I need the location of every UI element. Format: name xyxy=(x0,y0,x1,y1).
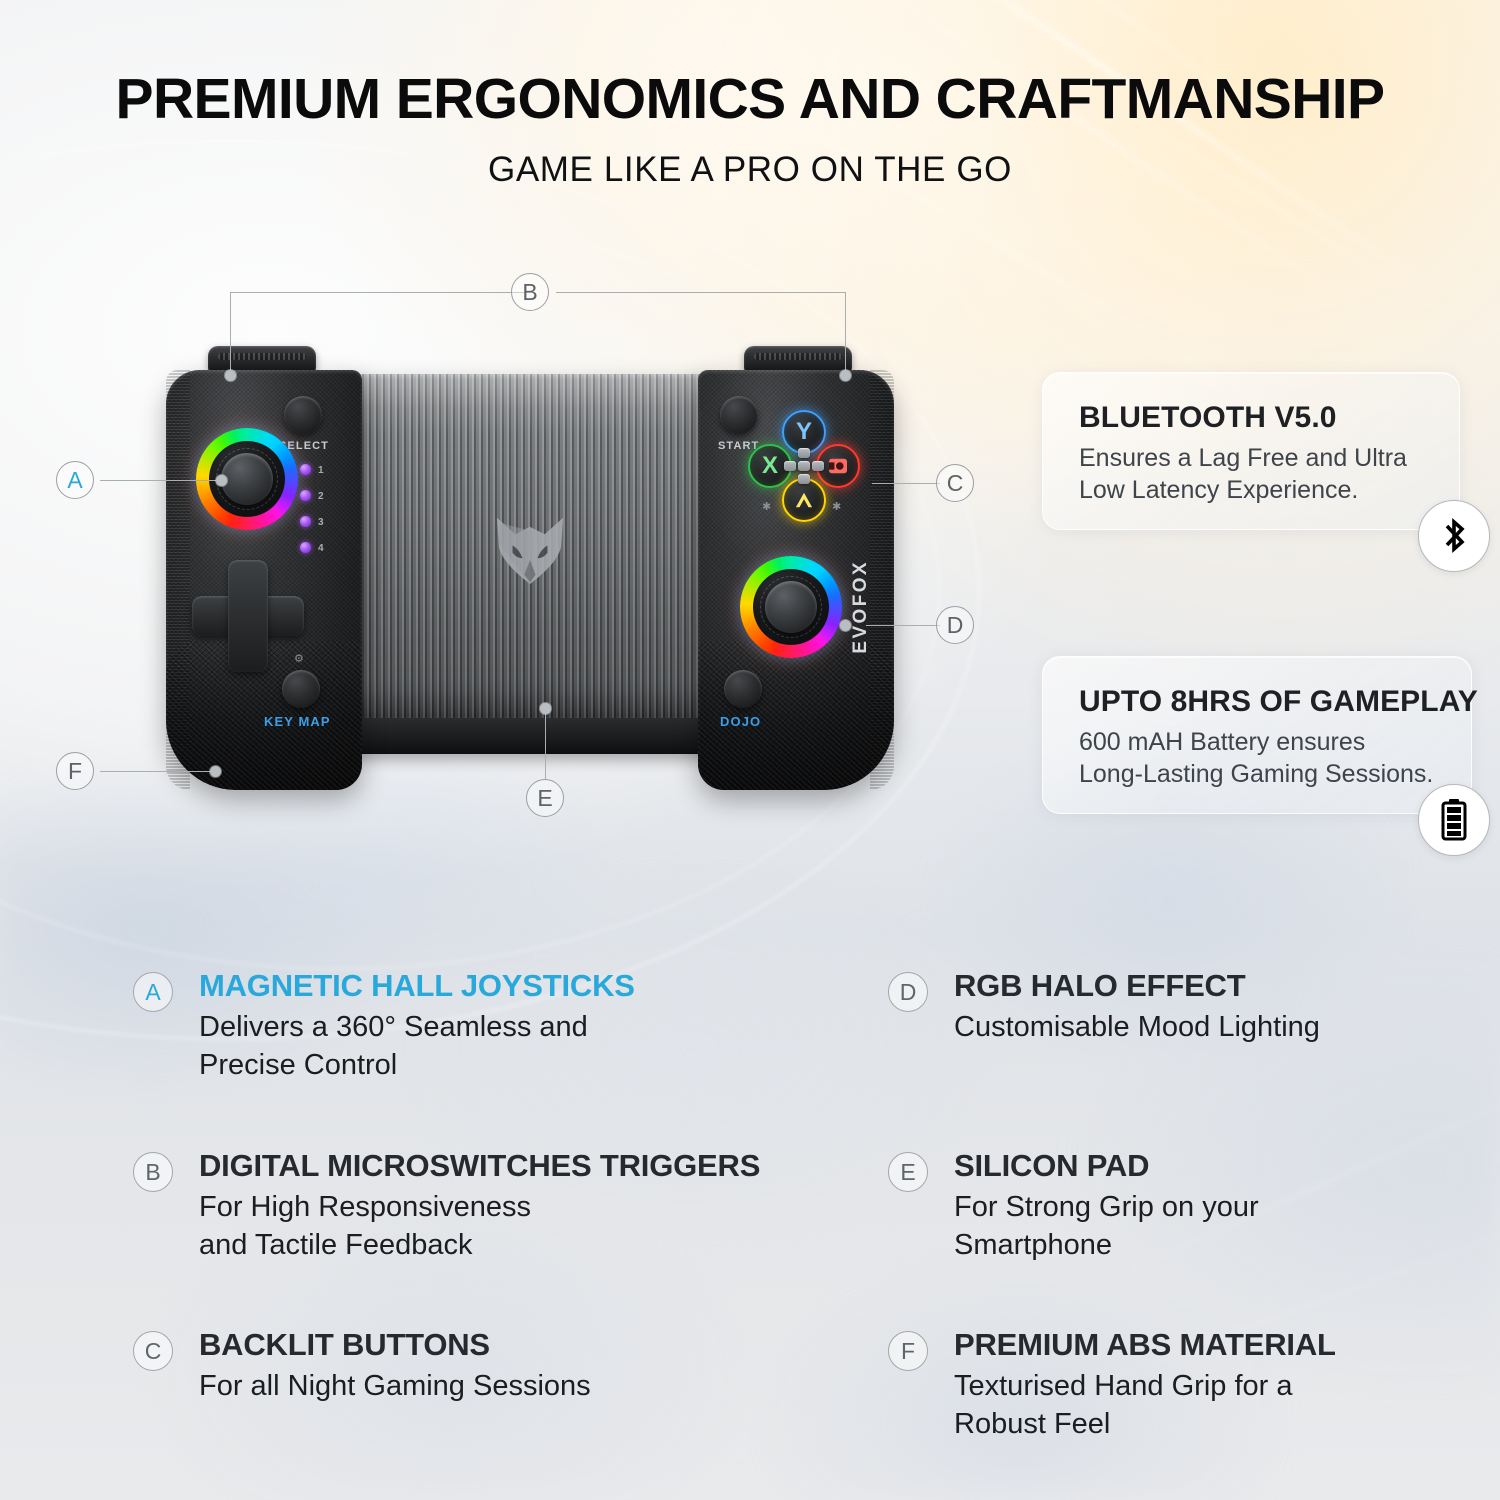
led-indicator-1 xyxy=(300,464,311,475)
legend-marker-a: A xyxy=(133,972,173,1012)
bluetooth-badge xyxy=(1418,500,1490,572)
battery-card-body: 600 mAH Battery ensures Long-Lasting Gam… xyxy=(1079,727,1433,790)
leader-line-e xyxy=(545,708,546,780)
mini-key-left[interactable] xyxy=(784,461,796,471)
backlight-icon: ✱ xyxy=(832,500,841,513)
brand-logo-text: EVOFOX xyxy=(850,560,872,654)
legend-body-d: Customisable Mood Lighting xyxy=(954,1009,1320,1047)
silicon-pad xyxy=(346,374,714,718)
led-number-4: 4 xyxy=(318,543,324,554)
legend-body-e: For Strong Grip on your Smartphone xyxy=(954,1189,1259,1264)
leader-dot-a xyxy=(216,475,227,486)
marker-b: B xyxy=(511,273,549,311)
leader-line-d xyxy=(866,625,940,626)
legend-body-f: Texturised Hand Grip for a Robust Feel xyxy=(954,1368,1292,1443)
legend-marker-d: D xyxy=(888,972,928,1012)
leader-line-c xyxy=(872,483,940,484)
dpad-vertical-arm[interactable] xyxy=(228,560,268,672)
face-button-a[interactable] xyxy=(782,478,826,522)
bluetooth-card-title: BLUETOOTH V5.0 xyxy=(1079,401,1337,435)
legend-body-b: For High Responsiveness and Tactile Feed… xyxy=(199,1189,531,1264)
shoulder-trigger-right[interactable] xyxy=(744,346,852,372)
joystick-cap[interactable] xyxy=(765,581,817,633)
dojo-label: DOJO xyxy=(720,714,761,729)
mini-dpad-cluster[interactable] xyxy=(784,448,824,484)
leader-line-b xyxy=(230,292,530,293)
battery-card-title: UPTO 8HRS OF GAMEPLAY xyxy=(1079,685,1478,719)
marker-f: F xyxy=(56,752,94,790)
legend-title-e: SILICON PAD xyxy=(954,1148,1149,1184)
led-number-1: 1 xyxy=(318,465,324,476)
legend-marker-b: B xyxy=(133,1152,173,1192)
legend-title-c: BACKLIT BUTTONS xyxy=(199,1327,490,1363)
leader-dot-b xyxy=(840,370,851,381)
right-joystick[interactable] xyxy=(740,556,842,658)
bluetooth-card-body: Ensures a Lag Free and Ultra Low Latency… xyxy=(1079,443,1407,506)
leader-dot-b xyxy=(225,370,236,381)
page-title: PREMIUM ERGONOMICS AND CRAFTMANSHIP xyxy=(0,66,1500,132)
leader-line-a xyxy=(100,480,222,481)
leader-dot-f xyxy=(210,766,221,777)
controller-device: SELECT 1 2 3 4 ⚙ KEY MAP START Y xyxy=(150,360,910,820)
bluetooth-icon xyxy=(1437,515,1471,557)
fox-logo-icon xyxy=(484,502,576,596)
joystick-cap[interactable] xyxy=(221,453,273,505)
legend-marker-e: E xyxy=(888,1152,928,1192)
mini-key-up[interactable] xyxy=(798,448,810,458)
start-button[interactable] xyxy=(720,396,758,434)
led-indicator-3 xyxy=(300,516,311,527)
dojo-button[interactable] xyxy=(724,670,762,708)
marker-a: A xyxy=(56,461,94,499)
leader-line-b xyxy=(845,292,846,375)
feature-card-bluetooth: BLUETOOTH V5.0 Ensures a Lag Free and Ul… xyxy=(1042,372,1460,530)
brightness-icon: ⚙ xyxy=(294,652,304,665)
led-number-2: 2 xyxy=(318,491,324,502)
leader-line-b xyxy=(230,292,231,375)
led-indicator-2 xyxy=(300,490,311,501)
feature-card-battery: UPTO 8HRS OF GAMEPLAY 600 mAH Battery en… xyxy=(1042,656,1472,814)
silicon-pad-base xyxy=(346,718,714,754)
led-number-3: 3 xyxy=(318,517,324,528)
legend-body-c: For all Night Gaming Sessions xyxy=(199,1368,591,1406)
legend-title-d: RGB HALO EFFECT xyxy=(954,968,1246,1004)
mini-key-down[interactable] xyxy=(798,474,810,484)
leader-dot-e xyxy=(540,703,551,714)
legend-title-b: DIGITAL MICROSWITCHES TRIGGERS xyxy=(199,1148,760,1184)
face-button-b-glyph-icon xyxy=(827,457,849,475)
right-grip: START Y X xyxy=(698,370,894,790)
left-joystick[interactable] xyxy=(196,428,298,530)
led-indicator-4 xyxy=(300,542,311,553)
marker-d: D xyxy=(936,606,974,644)
legend-marker-f: F xyxy=(888,1331,928,1371)
shoulder-trigger-left[interactable] xyxy=(208,346,316,372)
marker-c: C xyxy=(936,464,974,502)
left-grip: SELECT 1 2 3 4 ⚙ KEY MAP xyxy=(166,370,362,790)
legend-title-f: PREMIUM ABS MATERIAL xyxy=(954,1327,1336,1363)
key-map-label: KEY MAP xyxy=(264,714,331,729)
marker-e: E xyxy=(526,779,564,817)
battery-badge xyxy=(1418,784,1490,856)
legend-marker-c: C xyxy=(133,1331,173,1371)
leader-line-b xyxy=(556,292,846,293)
leader-dot-d xyxy=(840,620,851,631)
backlight-icon: ✱ xyxy=(762,500,771,513)
battery-icon xyxy=(1439,798,1469,842)
legend-title-a: MAGNETIC HALL JOYSTICKS xyxy=(199,968,635,1004)
mini-key-right[interactable] xyxy=(812,461,824,471)
face-button-a-glyph-icon xyxy=(793,491,815,509)
legend-body-a: Delivers a 360° Seamless and Precise Con… xyxy=(199,1009,588,1084)
key-map-button[interactable] xyxy=(282,670,320,708)
face-button-cluster[interactable]: Y X ✱ ✱ xyxy=(754,414,854,514)
dpad[interactable] xyxy=(192,560,304,672)
page-subtitle: GAME LIKE A PRO ON THE GO xyxy=(0,150,1500,190)
mini-key-center[interactable] xyxy=(798,461,810,471)
leader-line-f xyxy=(100,771,216,772)
